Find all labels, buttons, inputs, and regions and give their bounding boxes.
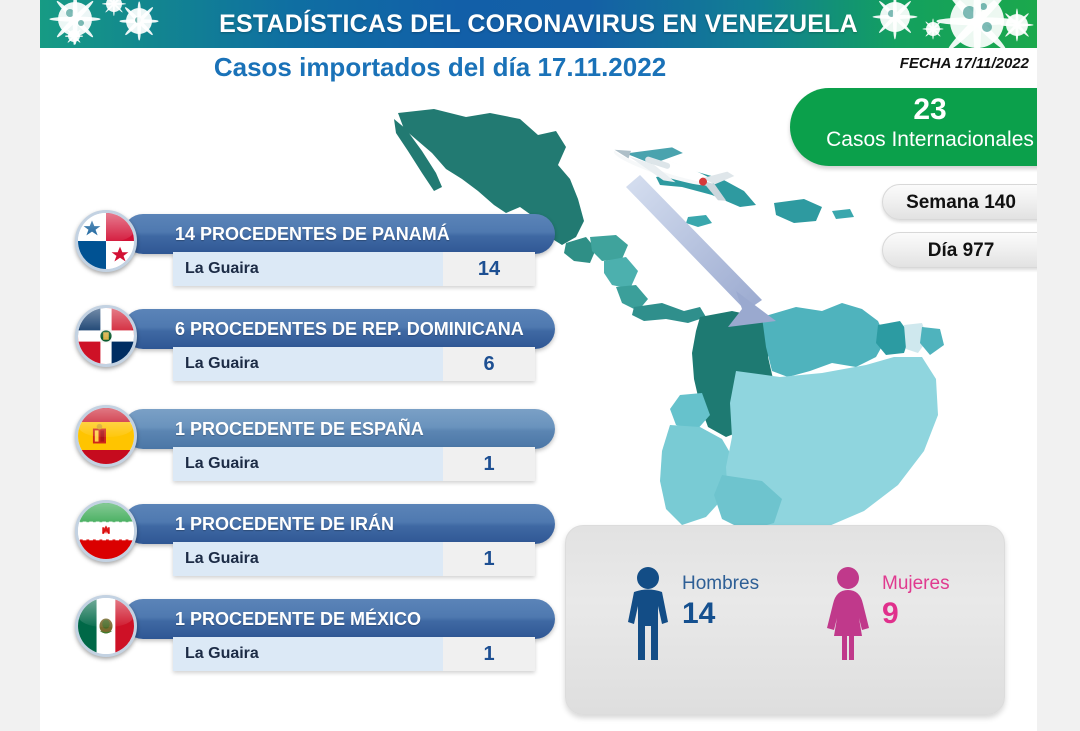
gender-men-label: Hombres	[682, 572, 759, 596]
male-figure-icon	[624, 566, 672, 664]
table-row: La Guaira 1	[173, 447, 535, 481]
table-row: La Guaira 14	[173, 252, 535, 286]
state-value: 14	[443, 252, 535, 286]
page-subtitle: Casos importados del día 17.11.2022	[40, 52, 840, 83]
international-cases-label: Casos Internacionales	[750, 127, 1037, 153]
header-banner: ESTADÍSTICAS DEL CORONAVIRUS EN VENEZUEL…	[40, 0, 1037, 48]
state-name: La Guaira	[173, 355, 443, 373]
country-headline: 14 PROCEDENTES DE PANAMÁ	[123, 214, 555, 254]
country-block-spain: 1 PROCEDENTE DE ESPAÑA La Guaira 1	[75, 403, 555, 489]
gender-women-value: 9	[882, 596, 950, 632]
state-name: La Guaira	[173, 645, 443, 663]
international-cases-count: 23	[750, 93, 1037, 127]
map-region-nicaragua	[604, 257, 638, 289]
international-cases-card: 23 Casos Internacionales	[790, 88, 1037, 166]
map-region-jamaica	[686, 215, 712, 227]
flag-mexico-icon	[75, 595, 137, 657]
map-region-puerto-rico	[832, 209, 854, 219]
country-block-panama: 14 PROCEDENTES DE PANAMÁ La Guaira 14	[75, 208, 555, 294]
state-name: La Guaira	[173, 455, 443, 473]
female-figure-icon	[824, 566, 872, 664]
country-headline: 1 PROCEDENTE DE ESPAÑA	[123, 409, 555, 449]
airplane-icon	[610, 131, 737, 203]
country-headline: 1 PROCEDENTE DE MÉXICO	[123, 599, 555, 639]
arrow-to-venezuela-icon	[626, 175, 776, 327]
week-pill: Semana 140	[882, 184, 1037, 220]
gender-breakdown-panel: Hombres 14 Mujeres 9	[565, 525, 1005, 715]
table-row: La Guaira 1	[173, 542, 535, 576]
country-block-mexico: 1 PROCEDENTE DE MÉXICO La Guaira 1	[75, 593, 555, 679]
state-name: La Guaira	[173, 550, 443, 568]
map-region-ecuador	[670, 393, 710, 431]
state-name: La Guaira	[173, 260, 443, 278]
day-pill: Día 977	[882, 232, 1037, 268]
country-headline: 6 PROCEDENTES DE REP. DOMINICANA	[123, 309, 555, 349]
table-row: La Guaira 6	[173, 347, 535, 381]
map-region-panama	[632, 303, 706, 323]
state-value: 1	[443, 542, 535, 576]
fecha-label: FECHA 17/11/2022	[900, 55, 1029, 72]
country-block-iran: 1 PROCEDENTE DE IRÁN La Guaira 1	[75, 498, 555, 584]
map-region-french-guiana	[920, 327, 944, 355]
state-value: 1	[443, 637, 535, 671]
page-title: ESTADÍSTICAS DEL CORONAVIRUS EN VENEZUEL…	[40, 0, 1037, 48]
flag-panama-icon	[75, 210, 137, 272]
state-value: 6	[443, 347, 535, 381]
gender-men-value: 14	[682, 596, 759, 632]
flag-dominican-republic-icon	[75, 305, 137, 367]
country-block-dominican-republic: 6 PROCEDENTES DE REP. DOMINICANA La Guai…	[75, 303, 555, 389]
country-headline: 1 PROCEDENTE DE IRÁN	[123, 504, 555, 544]
flag-iran-icon	[75, 500, 137, 562]
flag-spain-icon	[75, 405, 137, 467]
map-region-honduras	[590, 235, 628, 261]
gender-women-label: Mujeres	[882, 572, 950, 596]
infographic-canvas: ESTADÍSTICAS DEL CORONAVIRUS EN VENEZUEL…	[40, 0, 1037, 731]
state-value: 1	[443, 447, 535, 481]
map-region-hispaniola	[774, 199, 822, 223]
table-row: La Guaira 1	[173, 637, 535, 671]
